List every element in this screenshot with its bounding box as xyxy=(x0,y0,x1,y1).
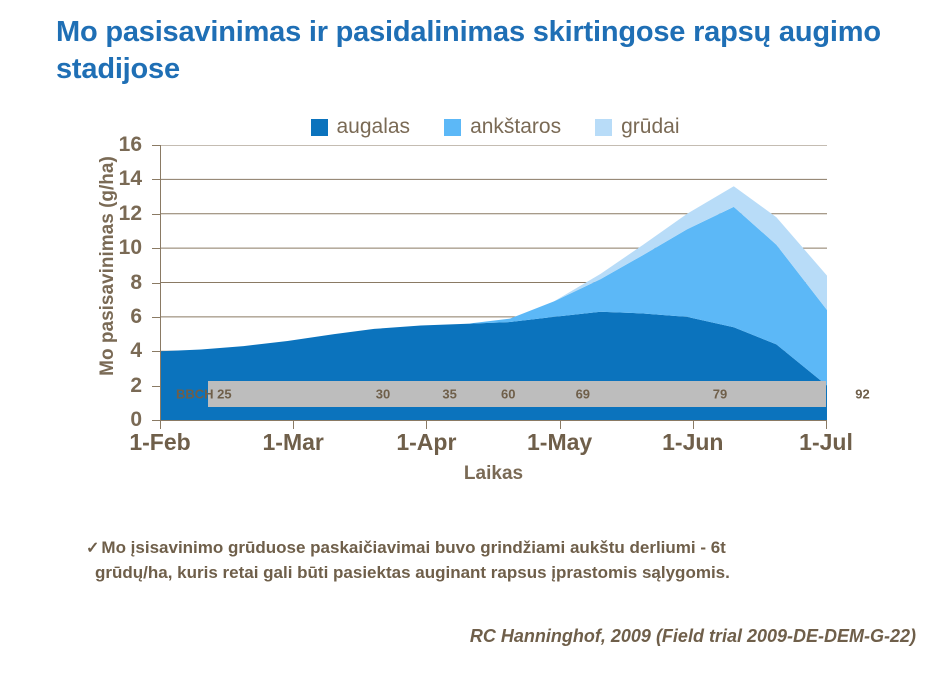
bbch-stage-label: 69 xyxy=(576,387,590,402)
x-tick-label: 1-Jun xyxy=(662,429,723,456)
x-tick-mark xyxy=(693,420,694,429)
note-text: ✓Mo įsisavinimo grūduose paskaičiavimai … xyxy=(86,536,922,585)
x-tick-mark xyxy=(826,420,827,429)
legend-label: augalas xyxy=(337,115,411,139)
check-icon: ✓ xyxy=(86,540,99,557)
legend-item-grūdai[interactable]: grūdai xyxy=(595,115,679,139)
legend-swatch-icon xyxy=(444,119,461,136)
x-tick-label: 1-Feb xyxy=(129,429,190,456)
source-citation: RC Hanninghof, 2009 (Field trial 2009-DE… xyxy=(0,626,916,647)
y-tick-label: 8 xyxy=(130,271,142,295)
y-axis-title: Mo pasisavinimas (g/ha) xyxy=(97,116,119,416)
bbch-stage-label: 35 xyxy=(442,387,456,402)
legend-swatch-icon xyxy=(311,119,328,136)
chart-legend: augalasankštarosgrūdai xyxy=(160,113,830,141)
x-axis-tick-labels: 1-Feb1-Mar1-Apr1-May1-Jun1-Jul xyxy=(0,429,951,463)
bbch-stage-label: 92 xyxy=(855,387,869,402)
note-line-2: grūdų/ha, kuris retai gali būti pasiekta… xyxy=(95,561,922,586)
y-tick-mark xyxy=(152,283,160,284)
y-tick-label: 2 xyxy=(130,374,142,398)
x-axis-title: Laikas xyxy=(160,463,827,485)
x-tick-mark xyxy=(160,420,161,429)
y-tick-label: 14 xyxy=(119,167,142,191)
y-tick-mark xyxy=(152,214,160,215)
legend-item-ankštaros[interactable]: ankštaros xyxy=(444,115,561,139)
legend-label: ankštaros xyxy=(470,115,561,139)
note-line-1: Mo įsisavinimo grūduose paskaičiavimai b… xyxy=(101,538,725,557)
bbch-stage-band: BBCH 25303560697992 xyxy=(208,381,826,407)
bbch-stage-label: 30 xyxy=(376,387,390,402)
plot-area xyxy=(160,145,826,420)
bbch-stage-label: BBCH 25 xyxy=(176,387,232,402)
slide-root: Mo pasisavinimas ir pasidalinimas skirti… xyxy=(0,0,951,673)
y-tick-mark xyxy=(152,248,160,249)
legend-label: grūdai xyxy=(621,115,679,139)
y-tick-mark xyxy=(152,386,160,387)
y-tick-label: 4 xyxy=(130,339,142,363)
y-tick-mark xyxy=(152,145,160,146)
x-tick-label: 1-Jul xyxy=(799,429,853,456)
bbch-stage-label: 79 xyxy=(713,387,727,402)
bbch-stage-label: 60 xyxy=(501,387,515,402)
y-tick-label: 6 xyxy=(130,305,142,329)
chart-container: augalasankštarosgrūdai 0246810121416 Mo … xyxy=(0,105,951,505)
x-tick-mark xyxy=(560,420,561,429)
y-tick-label: 10 xyxy=(119,236,142,260)
y-tick-mark xyxy=(152,317,160,318)
y-tick-label: 12 xyxy=(119,202,142,226)
x-tick-label: 1-Mar xyxy=(263,429,324,456)
x-tick-mark xyxy=(293,420,294,429)
x-axis-ticks xyxy=(0,420,951,429)
x-tick-mark xyxy=(426,420,427,429)
x-tick-label: 1-Apr xyxy=(396,429,456,456)
y-tick-mark xyxy=(152,179,160,180)
legend-swatch-icon xyxy=(595,119,612,136)
page-title: Mo pasisavinimas ir pasidalinimas skirti… xyxy=(56,14,916,88)
y-tick-label: 16 xyxy=(119,133,142,157)
y-tick-mark xyxy=(152,351,160,352)
area-chart-svg xyxy=(161,145,827,420)
legend-item-augalas[interactable]: augalas xyxy=(311,115,411,139)
x-tick-label: 1-May xyxy=(527,429,592,456)
